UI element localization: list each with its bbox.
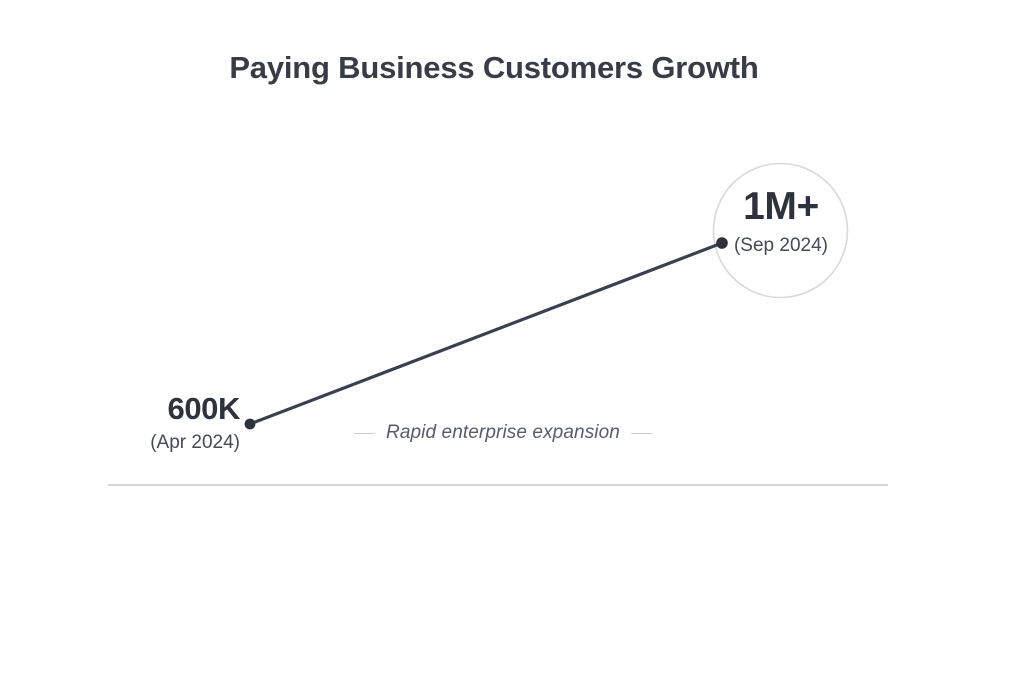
data-point-marker-start[interactable]: [245, 419, 256, 430]
baseline-divider: [108, 484, 888, 486]
annotation-rule-right-icon: [631, 433, 652, 434]
chart-annotation: Rapid enterprise expansion: [330, 421, 676, 445]
annotation-label: Rapid enterprise expansion: [386, 422, 620, 444]
data-point-label-end: 1M+ (Sep 2024): [681, 187, 881, 255]
end-point-value: 1M+: [681, 187, 881, 226]
start-point-date: (Apr 2024): [40, 433, 240, 452]
data-point-label-start: 600K (Apr 2024): [40, 393, 240, 452]
start-point-value: 600K: [40, 393, 240, 424]
trend-line: [250, 243, 722, 424]
chart-canvas: Paying Business Customers Growth 600K (A…: [0, 0, 1024, 683]
growth-line-plot: [0, 0, 1024, 683]
end-point-date: (Sep 2024): [681, 236, 881, 255]
annotation-rule-left-icon: [354, 433, 375, 434]
